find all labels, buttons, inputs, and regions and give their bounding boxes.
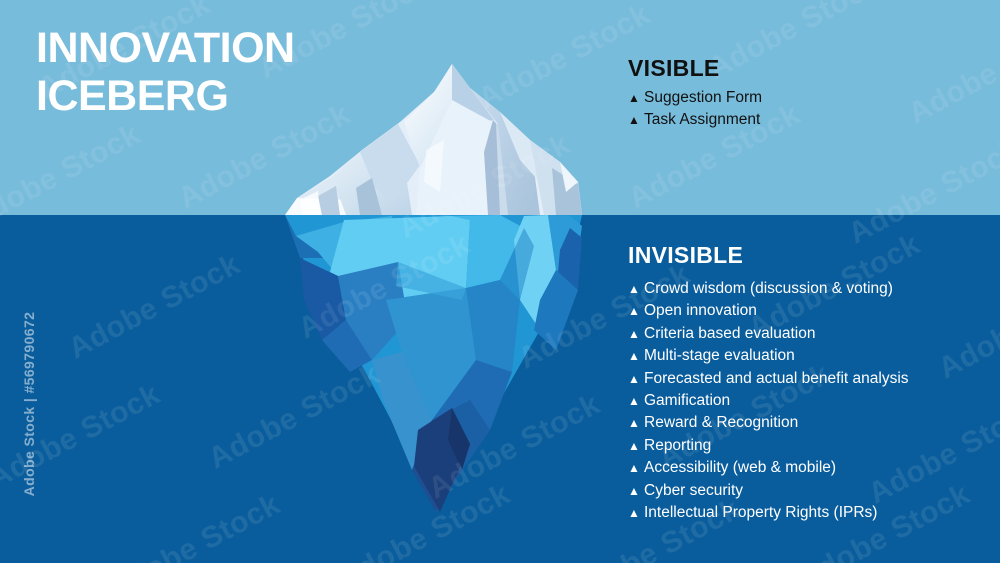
visible-section: VISIBLE ▲ Suggestion Form ▲ Task Assignm… bbox=[628, 55, 762, 132]
invisible-section: INVISIBLE ▲ Crowd wisdom (discussion & v… bbox=[628, 242, 909, 524]
list-item: ▲ Intellectual Property Rights (IPRs) bbox=[628, 502, 909, 524]
iceberg-below-water bbox=[285, 215, 582, 512]
invisible-heading: INVISIBLE bbox=[628, 242, 909, 268]
title-line-1: INNOVATION bbox=[36, 24, 295, 72]
list-item-label: Crowd wisdom (discussion & voting) bbox=[644, 278, 893, 300]
list-item: ▲ Open innovation bbox=[628, 300, 909, 322]
visible-heading: VISIBLE bbox=[628, 55, 762, 81]
list-item: ▲ Reward & Recognition bbox=[628, 412, 909, 434]
list-item: ▲ Suggestion Form bbox=[628, 87, 762, 109]
triangle-bullet-icon: ▲ bbox=[628, 457, 644, 479]
triangle-bullet-icon: ▲ bbox=[628, 480, 644, 502]
infographic-canvas: Adobe Stock Adobe Stock Adobe Stock Adob… bbox=[0, 0, 1000, 563]
visible-list: ▲ Suggestion Form ▲ Task Assignment bbox=[628, 87, 762, 132]
list-item: ▲ Accessibility (web & mobile) bbox=[628, 457, 909, 479]
list-item: ▲ Crowd wisdom (discussion & voting) bbox=[628, 278, 909, 300]
list-item-label: Intellectual Property Rights (IPRs) bbox=[644, 502, 877, 524]
iceberg-above-water bbox=[285, 64, 582, 215]
triangle-bullet-icon: ▲ bbox=[628, 345, 644, 367]
list-item-label: Suggestion Form bbox=[644, 87, 762, 109]
list-item-label: Cyber security bbox=[644, 480, 743, 502]
list-item-label: Gamification bbox=[644, 390, 730, 412]
list-item-label: Task Assignment bbox=[644, 109, 760, 131]
list-item-label: Accessibility (web & mobile) bbox=[644, 457, 836, 479]
triangle-bullet-icon: ▲ bbox=[628, 390, 644, 412]
list-item: ▲ Reporting bbox=[628, 435, 909, 457]
triangle-bullet-icon: ▲ bbox=[628, 323, 644, 345]
list-item-label: Open innovation bbox=[644, 300, 757, 322]
list-item-label: Criteria based evaluation bbox=[644, 323, 815, 345]
list-item: ▲ Forecasted and actual benefit analysis bbox=[628, 368, 909, 390]
list-item: ▲ Multi-stage evaluation bbox=[628, 345, 909, 367]
list-item-label: Reward & Recognition bbox=[644, 412, 798, 434]
title-line-2: ICEBERG bbox=[36, 72, 295, 120]
triangle-bullet-icon: ▲ bbox=[628, 435, 644, 457]
list-item: ▲ Gamification bbox=[628, 390, 909, 412]
triangle-bullet-icon: ▲ bbox=[628, 278, 644, 300]
stock-credit-label: Adobe Stock | #569790672 bbox=[21, 289, 37, 519]
triangle-bullet-icon: ▲ bbox=[628, 502, 644, 524]
triangle-bullet-icon: ▲ bbox=[628, 109, 644, 131]
triangle-bullet-icon: ▲ bbox=[628, 300, 644, 322]
list-item: ▲ Task Assignment bbox=[628, 109, 762, 131]
invisible-list: ▲ Crowd wisdom (discussion & voting) ▲ O… bbox=[628, 278, 909, 524]
triangle-bullet-icon: ▲ bbox=[628, 368, 644, 390]
triangle-bullet-icon: ▲ bbox=[628, 87, 644, 109]
list-item-label: Multi-stage evaluation bbox=[644, 345, 795, 367]
list-item: ▲ Criteria based evaluation bbox=[628, 323, 909, 345]
list-item: ▲ Cyber security bbox=[628, 480, 909, 502]
list-item-label: Forecasted and actual benefit analysis bbox=[644, 368, 909, 390]
page-title: INNOVATION ICEBERG bbox=[36, 24, 295, 120]
list-item-label: Reporting bbox=[644, 435, 711, 457]
triangle-bullet-icon: ▲ bbox=[628, 412, 644, 434]
